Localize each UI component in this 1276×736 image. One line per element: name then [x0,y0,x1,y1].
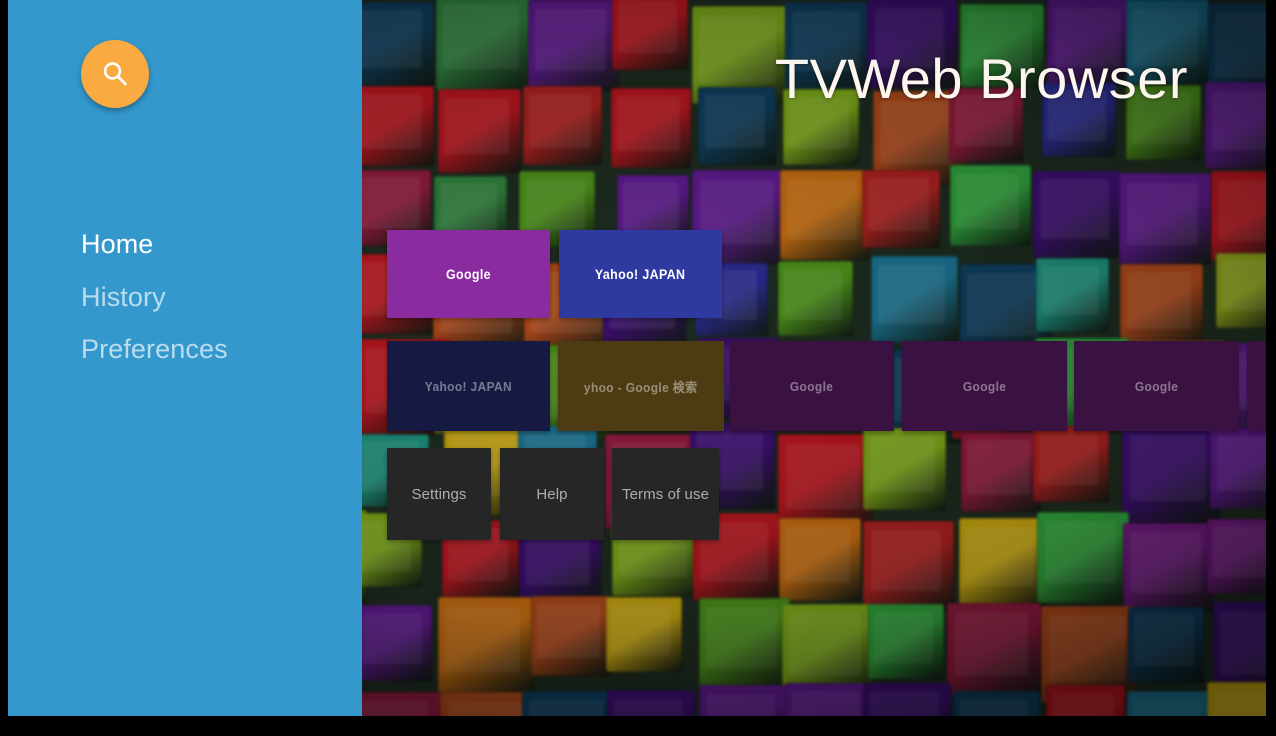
wallpaper-cube [699,685,788,716]
sidebar-item-history[interactable]: History [8,271,362,324]
wallpaper-cube [606,597,681,672]
wallpaper-cube [959,518,1047,606]
wallpaper-cube [357,605,433,681]
wallpaper-cube [698,87,776,165]
wallpaper-cube [522,691,617,716]
history-row-tile[interactable]: Google [902,341,1067,431]
wallpaper-cube [779,518,862,601]
tile-label: Settings [404,486,475,503]
wallpaper-cube [436,0,533,91]
history-row-tile[interactable]: yhoo - Google 検索 [558,341,724,431]
wallpaper-cube [1128,607,1204,683]
wallpaper-cube [1033,426,1109,502]
wallpaper-cube [1037,512,1128,603]
wallpaper-cube [531,596,611,676]
wallpaper-cube [950,165,1031,246]
wallpaper-cube [611,88,691,168]
wallpaper-cube [1122,426,1219,523]
bookmarks-row-tile[interactable]: Yahoo! JAPAN [559,230,722,318]
wallpaper-cube [607,690,695,716]
wallpaper-cube [1216,253,1266,328]
history-row-tile[interactable] [1247,341,1266,431]
wallpaper-cube [1033,171,1121,259]
menu-row-tile[interactable]: Terms of use [612,448,719,540]
sidebar-nav: HomeHistoryPreferences [8,218,362,376]
tile-label: Yahoo! JAPAN [588,267,693,282]
tile-label: Yahoo! JAPAN [417,379,519,394]
wallpaper-cube [523,86,602,165]
wallpaper-cube [863,683,951,716]
wallpaper-cube [1207,682,1266,716]
history-row-tile[interactable]: Google [1074,341,1239,431]
tile-label: yhoo - Google 検索 [577,377,705,396]
wallpaper-cube [352,692,441,716]
wallpaper-cube [699,598,790,689]
wallpaper-cube [528,0,619,91]
sidebar: HomeHistoryPreferences [8,0,362,716]
wallpaper-cube [1123,523,1213,613]
history-row-tile[interactable]: Yahoo! JAPAN [387,341,550,431]
wallpaper-cube [863,521,953,611]
sidebar-item-home[interactable]: Home [8,218,362,271]
wallpaper-cube [1205,82,1266,169]
wallpaper-cube [353,86,433,166]
wallpaper-cube [1127,691,1213,716]
wallpaper-cube [438,597,534,693]
tile-label: Google [955,379,1013,394]
wallpaper-cube [961,432,1041,512]
wallpaper-cube [780,170,870,260]
wallpaper-cube [1210,428,1266,509]
wallpaper-cube [1207,519,1266,594]
wallpaper-cube [871,256,958,343]
wallpaper-cube [868,604,943,679]
wallpaper-cube [778,261,853,336]
wallpaper-cube [862,170,940,248]
sidebar-item-preferences[interactable]: Preferences [8,323,362,376]
tile-label: Google [1127,379,1185,394]
wallpaper-cube [1211,171,1266,262]
wallpaper-cube [1046,685,1125,716]
tile-label: Google [439,267,499,282]
wallpaper-cube [1120,264,1203,347]
tv-browser-app: TVWeb Browser GoogleYahoo! JAPANYahoo! J… [8,0,1266,716]
wallpaper-cube [785,683,873,716]
wallpaper-cube [778,434,874,530]
history-row-tile[interactable]: Google [730,341,894,431]
wallpaper-cube [953,691,1040,716]
tile-label: Help [528,486,575,503]
wallpaper-cube [863,428,946,511]
menu-row-tile[interactable]: Settings [387,448,491,540]
wallpaper-cube [612,0,688,70]
tile-label: Terms of use [614,486,717,503]
wallpaper-cube [947,603,1041,697]
tile-label: Google [783,379,841,394]
search-icon [98,57,132,91]
app-title: TVWeb Browser [775,46,1188,111]
search-button[interactable] [81,40,149,108]
wallpaper-cube [438,89,521,172]
bookmarks-row-tile[interactable]: Google [387,230,550,318]
menu-row-tile[interactable]: Help [500,448,604,540]
wallpaper-cube [1036,258,1109,331]
wallpaper-cube [1119,173,1211,265]
